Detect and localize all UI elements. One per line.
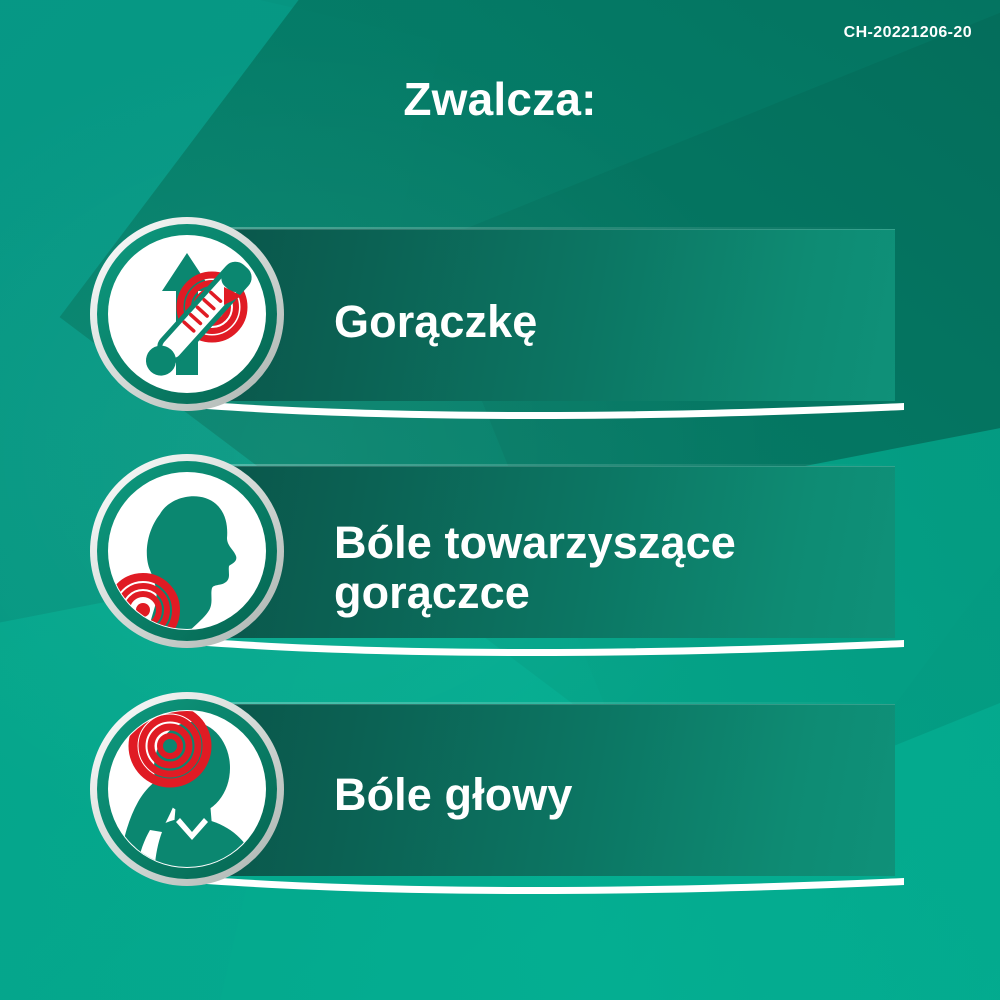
head-profile-pain-icon	[88, 452, 286, 650]
headache-person-icon	[88, 690, 286, 888]
benefit-label: Bóle głowy	[334, 770, 884, 820]
benefit-row: Gorączkę	[0, 215, 1000, 415]
poster-canvas: CH-20221206-20 Zwalcza: Gorączkę	[0, 0, 1000, 1000]
benefit-row: Bóle głowy	[0, 690, 1000, 890]
page-title: Zwalcza:	[0, 72, 1000, 126]
benefit-label: Bóle towarzyszące gorączce	[334, 518, 884, 619]
benefit-label: Gorączkę	[334, 297, 884, 347]
campaign-code: CH-20221206-20	[844, 24, 972, 42]
thermometer-fever-icon	[88, 215, 286, 413]
benefit-row: Bóle towarzyszące gorączce	[0, 452, 1000, 652]
